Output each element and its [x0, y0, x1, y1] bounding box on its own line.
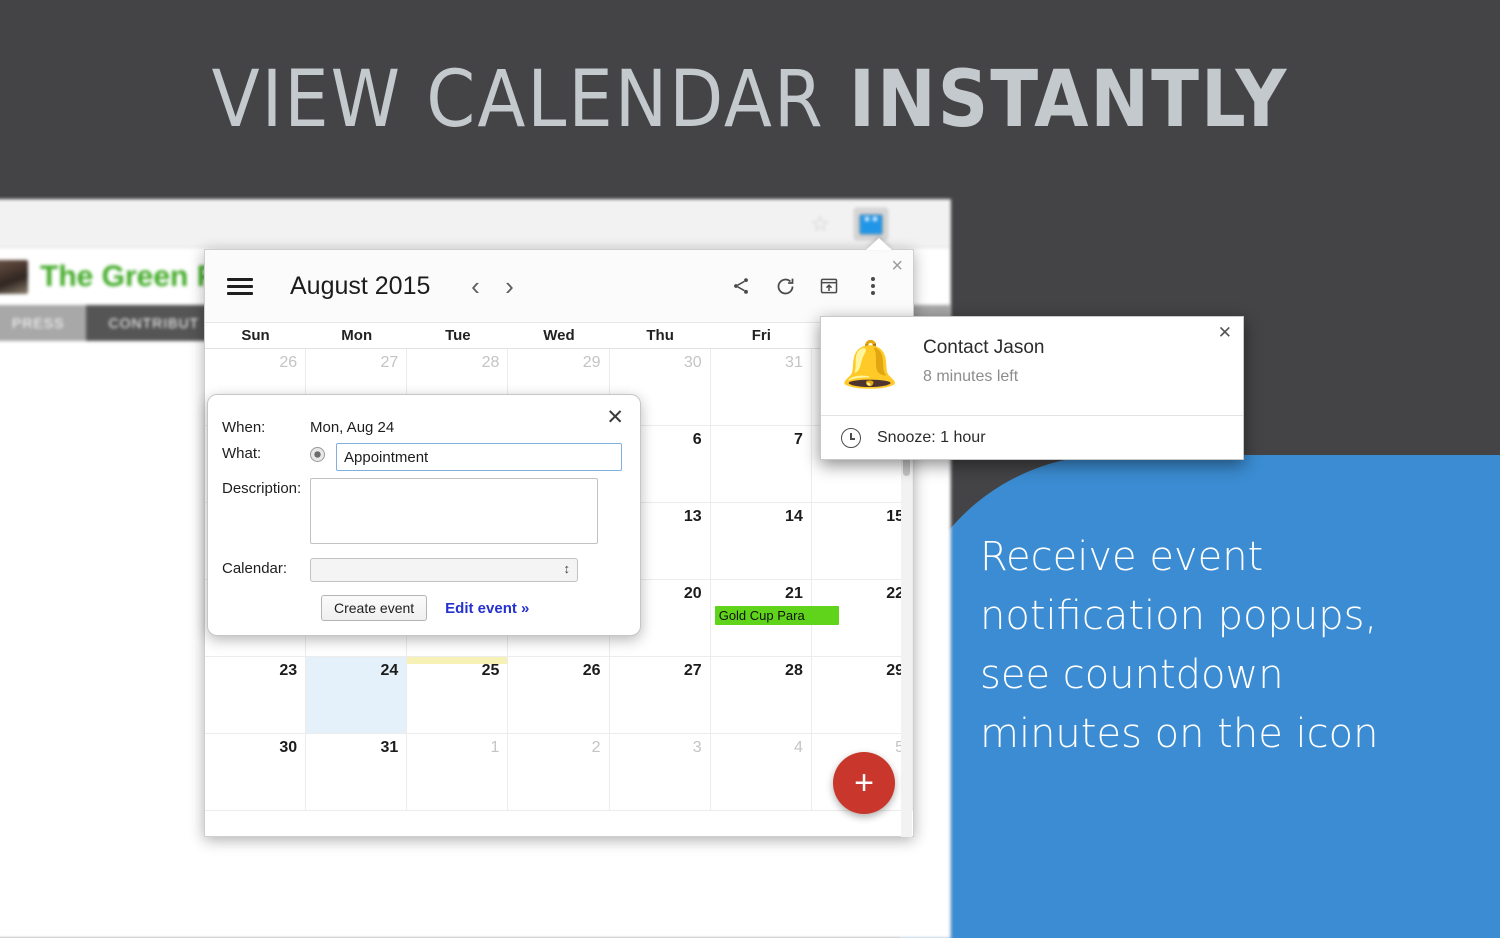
headline-bold: INSTANTLY	[849, 55, 1288, 145]
day-number: 14	[711, 508, 803, 526]
hamburger-icon[interactable]	[227, 274, 253, 299]
calendar-day-cell[interactable]: 29	[812, 657, 913, 734]
dow-fri: Fri	[711, 323, 812, 348]
extension-glyph	[859, 214, 883, 235]
day-number: 28	[407, 354, 499, 372]
popup-close-icon[interactable]: ×	[891, 256, 903, 276]
edit-event-link[interactable]: Edit event »	[445, 600, 529, 617]
calendar-day-cell[interactable]: 27	[610, 657, 711, 734]
calendar-day-cell[interactable]: 14	[711, 503, 812, 580]
refresh-icon[interactable]	[763, 269, 807, 303]
create-event-button[interactable]: Create event	[321, 595, 427, 621]
headline-text: VIEW CALENDAR INSTANTLY	[212, 55, 1289, 145]
create-event-fab[interactable]: +	[833, 752, 895, 814]
day-number: 25	[407, 662, 499, 680]
promo-line-2: notification popups,	[980, 587, 1450, 646]
day-number: 29	[508, 354, 600, 372]
calendar-day-cell[interactable]: 3	[610, 734, 711, 811]
snooze-action[interactable]: Snooze: 1 hour	[821, 415, 1243, 460]
promo-line-1: Receive event	[980, 528, 1450, 587]
clock-icon	[841, 428, 861, 448]
event-notification-popup: ✕ 🔔 Contact Jason 8 minutes left Snooze:…	[820, 316, 1244, 460]
day-number: 31	[306, 739, 398, 757]
day-number: 27	[306, 354, 398, 372]
calendar-extension-icon[interactable]	[854, 208, 888, 240]
notification-close-icon[interactable]: ✕	[1218, 324, 1232, 341]
headline-light: VIEW CALENDAR	[212, 55, 825, 145]
when-row: When: Mon, Aug 24	[222, 417, 622, 436]
screenshot-stage: VIEW CALENDAR INSTANTLY Receive event no…	[0, 0, 1500, 938]
promo-line-4: minutes on the icon	[980, 705, 1450, 764]
bell-icon: 🔔	[839, 333, 901, 395]
what-row: What:	[222, 443, 622, 471]
day-number: 15	[812, 508, 904, 526]
dow-tue: Tue	[407, 323, 508, 348]
dow-thu: Thu	[610, 323, 711, 348]
what-label: What:	[222, 443, 310, 462]
day-number: 27	[610, 662, 702, 680]
share-icon[interactable]	[719, 269, 763, 303]
star-icon[interactable]: ☆	[810, 213, 830, 235]
day-number: 7	[711, 431, 803, 449]
promo-line-3: see countdown	[980, 646, 1450, 705]
kebab-menu-icon[interactable]	[851, 269, 895, 303]
site-title: The Green Pr	[40, 260, 228, 294]
calendar-day-cell[interactable]: 28	[711, 657, 812, 734]
dow-mon: Mon	[306, 323, 407, 348]
day-number: 26	[205, 354, 297, 372]
day-number: 26	[508, 662, 600, 680]
calendar-day-cell[interactable]: 31	[306, 734, 407, 811]
calendar-day-cell[interactable]: 2	[508, 734, 609, 811]
popup-pointer-arrow	[866, 238, 892, 250]
description-row: Description:	[222, 478, 622, 544]
calendar-label: Calendar:	[222, 558, 310, 577]
dow-sun: Sun	[205, 323, 306, 348]
prev-month-button[interactable]: ‹	[458, 273, 492, 299]
day-number: 24	[306, 662, 398, 680]
calendar-day-cell[interactable]: 23	[205, 657, 306, 734]
marketing-headline: VIEW CALENDAR INSTANTLY	[0, 0, 1500, 200]
day-number: 1	[407, 739, 499, 757]
day-number: 30	[610, 354, 702, 372]
description-textarea[interactable]	[310, 478, 598, 544]
calendar-select[interactable]	[310, 558, 578, 582]
calendar-day-cell[interactable]: 7	[711, 426, 812, 503]
notification-body: 🔔 Contact Jason 8 minutes left	[821, 317, 1243, 415]
what-radio[interactable]	[310, 447, 325, 462]
calendar-header: August 2015 ‹ ›	[205, 250, 913, 323]
day-number: 31	[711, 354, 803, 372]
day-number: 21	[711, 585, 803, 603]
calendar-day-cell[interactable]: 1	[407, 734, 508, 811]
notification-subtitle: 8 minutes left	[923, 368, 1044, 386]
nav-item-press[interactable]: PRESS	[0, 305, 86, 341]
day-number: 23	[205, 662, 297, 680]
when-value: Mon, Aug 24	[310, 417, 394, 436]
nav-item-contribute[interactable]: CONTRIBUT	[86, 305, 221, 341]
what-input[interactable]	[336, 443, 622, 471]
day-number: 30	[205, 739, 297, 757]
day-number: 22	[812, 585, 904, 603]
site-thumbnail	[0, 260, 28, 294]
dialog-actions: Create event Edit event »	[321, 595, 622, 621]
day-number: 2	[508, 739, 600, 757]
browser-toolbar: ☆	[0, 200, 950, 248]
snooze-label: Snooze: 1 hour	[877, 429, 986, 447]
promo-copy: Receive event notification popups, see c…	[980, 528, 1450, 764]
calendar-day-cell[interactable]: 30	[205, 734, 306, 811]
day-number: 3	[610, 739, 702, 757]
when-label: When:	[222, 417, 310, 436]
dow-wed: Wed	[508, 323, 609, 348]
notification-text: Contact Jason 8 minutes left	[901, 333, 1044, 415]
day-number: 28	[711, 662, 803, 680]
calendar-day-cell[interactable]: 26	[508, 657, 609, 734]
quick-add-event-dialog: ✕ When: Mon, Aug 24 What: Description: C…	[207, 394, 641, 636]
next-month-button[interactable]: ›	[492, 273, 526, 299]
day-number: 4	[711, 739, 803, 757]
calendar-day-cell[interactable]: 31	[711, 349, 812, 426]
day-of-week-row: Sun Mon Tue Wed Thu Fri Sat	[205, 323, 913, 349]
calendar-day-cell[interactable]: 24	[306, 657, 407, 734]
month-title: August 2015	[290, 272, 430, 301]
day-number: 29	[812, 662, 904, 680]
calendar-day-cell[interactable]: 15	[812, 503, 913, 580]
notification-title: Contact Jason	[923, 337, 1044, 359]
description-label: Description:	[222, 478, 310, 497]
open-in-new-icon[interactable]	[807, 269, 851, 303]
calendar-day-cell[interactable]: 25	[407, 657, 508, 734]
calendar-select-row: Calendar:	[222, 558, 622, 582]
calendar-day-cell[interactable]: 21Gold Cup Para	[711, 580, 812, 657]
dialog-close-icon[interactable]: ✕	[606, 407, 624, 428]
calendar-day-cell[interactable]: 22	[812, 580, 913, 657]
calendar-day-cell[interactable]: 4	[711, 734, 812, 811]
